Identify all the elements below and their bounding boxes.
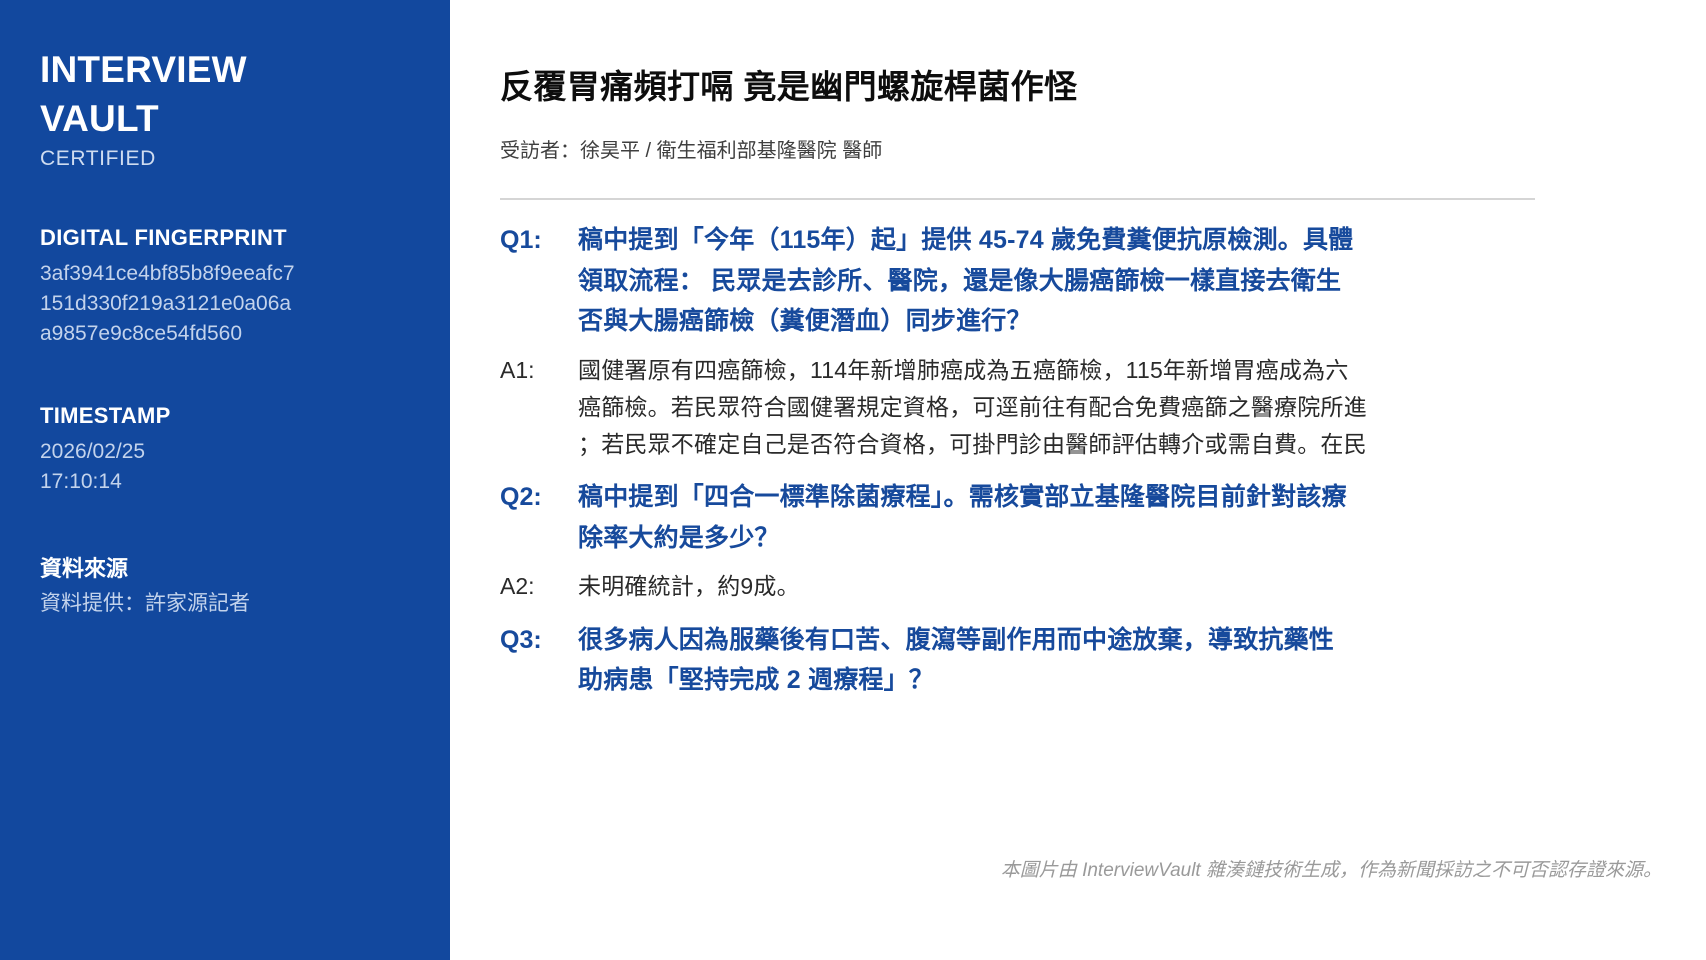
qa-text-line: 除率大約是多少？: [578, 518, 1706, 559]
brand-title: INTERVIEW VAULT CERTIFIED: [40, 46, 290, 171]
timestamp-time: 17:10:14: [40, 467, 330, 497]
source-value: 資料提供：許家源記者: [40, 589, 370, 619]
qa-list: Q1:稿中提到「今年（115年）起」提供 45-74 歲免費糞便抗原檢測。具體領…: [500, 220, 1706, 701]
interviewee-line: 受訪者：徐昊平 / 衛生福利部基隆醫院 醫師: [500, 137, 1706, 165]
certified-interview-page: INTERVIEW VAULT CERTIFIED DIGITAL FINGER…: [0, 0, 1706, 960]
qa-text-line: 助病患「堅持完成 2 週療程」？: [578, 660, 1706, 701]
qa-text-line: 稿中提到「四合一標準除菌療程」。需核實部立基隆醫院目前針對該療: [578, 477, 1706, 518]
sidebar: INTERVIEW VAULT CERTIFIED DIGITAL FINGER…: [0, 0, 450, 960]
qa-text-line: 否與大腸癌篩檢（糞便潛血）同步進行？: [578, 301, 1706, 342]
qa-question-row: Q1:稿中提到「今年（115年）起」提供 45-74 歲免費糞便抗原檢測。具體領…: [500, 220, 1706, 342]
qa-text-line: 未明確統計，約9成。: [578, 568, 1706, 605]
qa-answer-row: A2:未明確統計，約9成。: [500, 568, 1706, 605]
footer-note: 本圖片由 InterviewVault 雜湊鏈技術生成，作為新聞採訪之不可否認存…: [1001, 855, 1662, 882]
timestamp-section: TIMESTAMP 2026/02/25 17:10:14: [40, 403, 410, 497]
question-tag: Q3:: [500, 620, 578, 661]
qa-text-line: 稿中提到「今年（115年）起」提供 45-74 歲免費糞便抗原檢測。具體: [578, 220, 1706, 261]
qa-question-row: Q3:很多病人因為服藥後有口苦、腹瀉等副作用而中途放棄，導致抗藥性助病患「堅持完…: [500, 620, 1706, 701]
qa-text-line: 很多病人因為服藥後有口苦、腹瀉等副作用而中途放棄，導致抗藥性: [578, 620, 1706, 661]
qa-text-line: ；若民眾不確定自己是否符合資格，可掛門診由醫師評估轉介或需自費。在民: [578, 426, 1706, 463]
timestamp-date: 2026/02/25: [40, 437, 330, 467]
question-text: 很多病人因為服藥後有口苦、腹瀉等副作用而中途放棄，導致抗藥性助病患「堅持完成 2…: [578, 620, 1706, 701]
question-text: 稿中提到「四合一標準除菌療程」。需核實部立基隆醫院目前針對該療除率大約是多少？: [578, 477, 1706, 558]
answer-text: 國健署原有四癌篩檢，114年新增肺癌成為五癌篩檢，115年新增胃癌成為六癌篩檢。…: [578, 352, 1706, 464]
page-title: 反覆胃痛頻打嗝 竟是幽門螺旋桿菌作怪: [500, 66, 1706, 109]
brand-line-2: VAULT: [40, 95, 290, 144]
source-label: 資料來源: [40, 551, 410, 583]
question-tag: Q1:: [500, 220, 578, 261]
question-tag: Q2:: [500, 477, 578, 518]
qa-answer-row: A1:國健署原有四癌篩檢，114年新增肺癌成為五癌篩檢，115年新增胃癌成為六癌…: [500, 352, 1706, 464]
timestamp-label: TIMESTAMP: [40, 403, 410, 429]
digital-fingerprint-value: 3af3941ce4bf85b8f9eeafc7151d330f219a3121…: [40, 259, 302, 349]
qa-text-line: 領取流程： 民眾是去診所、醫院，還是像大腸癌篩檢一樣直接去衛生: [578, 261, 1706, 302]
qa-text-line: 國健署原有四癌篩檢，114年新增肺癌成為五癌篩檢，115年新增胃癌成為六: [578, 352, 1706, 389]
answer-tag: A1:: [500, 352, 578, 389]
digital-fingerprint-section: DIGITAL FINGERPRINT 3af3941ce4bf85b8f9ee…: [40, 225, 410, 349]
title-divider: [500, 198, 1535, 200]
qa-text-line: 癌篩檢。若民眾符合國健署規定資格，可逕前往有配合免費癌篩之醫療院所進: [578, 389, 1706, 426]
source-section: 資料來源 資料提供：許家源記者: [40, 551, 410, 619]
brand-line-1: INTERVIEW: [40, 46, 290, 95]
main-content: 反覆胃痛頻打嗝 竟是幽門螺旋桿菌作怪 受訪者：徐昊平 / 衛生福利部基隆醫院 醫…: [450, 0, 1706, 960]
digital-fingerprint-label: DIGITAL FINGERPRINT: [40, 225, 410, 251]
brand-subtitle: CERTIFIED: [40, 146, 290, 171]
question-text: 稿中提到「今年（115年）起」提供 45-74 歲免費糞便抗原檢測。具體領取流程…: [578, 220, 1706, 342]
qa-question-row: Q2:稿中提到「四合一標準除菌療程」。需核實部立基隆醫院目前針對該療除率大約是多…: [500, 477, 1706, 558]
answer-tag: A2:: [500, 568, 578, 605]
answer-text: 未明確統計，約9成。: [578, 568, 1706, 605]
